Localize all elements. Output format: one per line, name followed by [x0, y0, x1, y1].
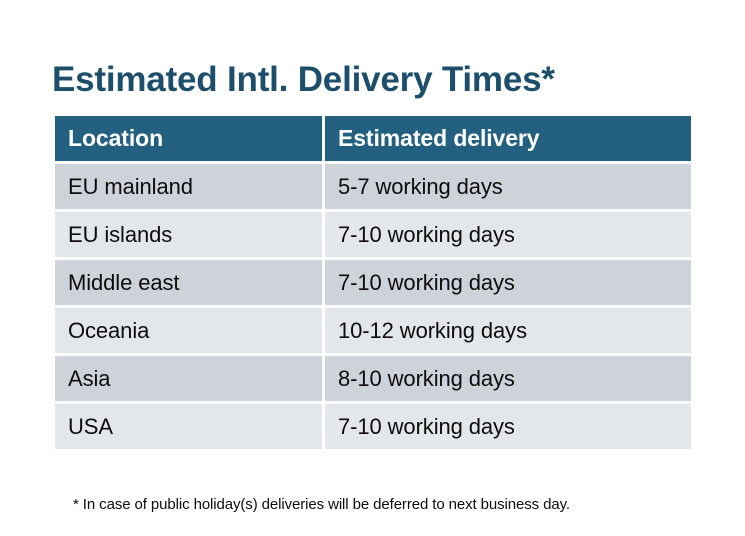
cell-delivery: 7-10 working days — [325, 260, 691, 305]
table-row: USA 7-10 working days — [55, 404, 691, 449]
table-header: Location Estimated delivery — [55, 116, 691, 161]
cell-delivery: 7-10 working days — [325, 404, 691, 449]
cell-delivery: 10-12 working days — [325, 308, 691, 353]
cell-location: Oceania — [55, 308, 322, 353]
cell-location: Middle east — [55, 260, 322, 305]
footnote-text: * In case of public holiday(s) deliverie… — [73, 495, 570, 515]
cell-delivery: 7-10 working days — [325, 212, 691, 257]
cell-location: USA — [55, 404, 322, 449]
cell-delivery: 8-10 working days — [325, 356, 691, 401]
column-header-location: Location — [55, 116, 322, 161]
cell-delivery: 5-7 working days — [325, 164, 691, 209]
cell-location: EU mainland — [55, 164, 322, 209]
delivery-times-page: Estimated Intl. Delivery Times* Location… — [0, 0, 745, 536]
table-row: Middle east 7-10 working days — [55, 260, 691, 305]
table-row: Asia 8-10 working days — [55, 356, 691, 401]
table-header-row: Location Estimated delivery — [55, 116, 691, 161]
table-row: Oceania 10-12 working days — [55, 308, 691, 353]
estimated-delivery-times-table: Location Estimated delivery EU mainland … — [52, 113, 694, 452]
table-row: EU mainland 5-7 working days — [55, 164, 691, 209]
column-header-estimated-delivery: Estimated delivery — [325, 116, 691, 161]
cell-location: Asia — [55, 356, 322, 401]
page-title: Estimated Intl. Delivery Times* — [52, 59, 555, 101]
cell-location: EU islands — [55, 212, 322, 257]
table-body: EU mainland 5-7 working days EU islands … — [55, 164, 691, 449]
table-row: EU islands 7-10 working days — [55, 212, 691, 257]
